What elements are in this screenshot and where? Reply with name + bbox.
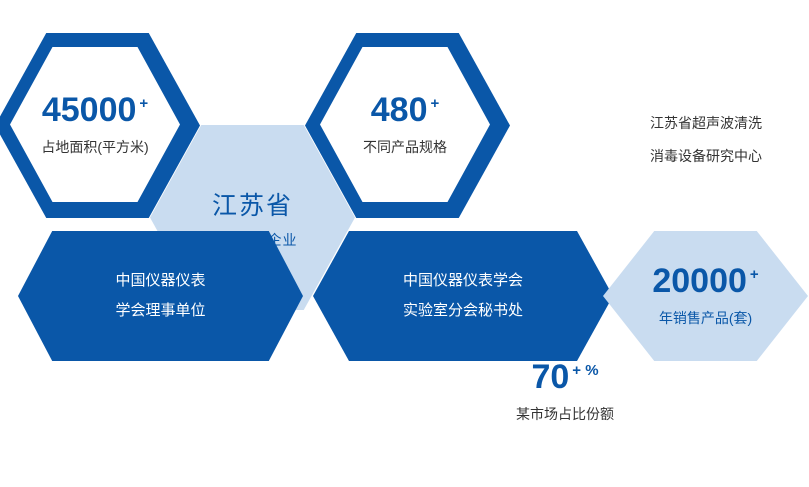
stat-market-share-superscript: + % <box>572 363 598 378</box>
stat-specs-value: 480 <box>371 93 428 127</box>
stat-annual-sales-number-line: 20000 + <box>652 264 758 298</box>
stat-market-share: 70 + % 某市场占比份额 <box>490 360 640 424</box>
stat-area-caption: 占地面积(平方米) <box>41 137 148 157</box>
hex-lab-branch-line2: 实验室分会秘书处 <box>403 296 523 326</box>
label-high-tech-enterprise: 江苏省高新技术企业 <box>485 212 620 238</box>
stat-specs-superscript: + <box>430 96 439 111</box>
stat-specs-number-line: 480 + <box>371 93 440 127</box>
hex-instrument-council-line1: 中国仪器仪表 <box>115 266 205 296</box>
stat-annual-sales-superscript: + <box>750 267 759 282</box>
label-research-center-line1: 江苏省超声波清洗 <box>650 110 762 136</box>
hex-lab-branch-line1: 中国仪器仪表学会 <box>403 266 523 296</box>
stat-area-number-line: 45000 + <box>42 93 148 127</box>
stat-market-share-number-line: 70 + % <box>490 360 640 394</box>
stat-hex-annual-sales: 20000 + 年销售产品(套) <box>603 231 808 361</box>
stat-annual-sales-caption: 年销售产品(套) <box>659 308 752 328</box>
stat-specs-caption: 不同产品规格 <box>363 137 447 157</box>
hex-instrument-council-line2: 学会理事单位 <box>115 296 205 326</box>
stat-annual-sales-value: 20000 <box>652 264 747 298</box>
hex-lab-branch: 中国仪器仪表学会 实验室分会秘书处 <box>313 231 613 361</box>
infographic-canvas: 45000 + 占地面积(平方米) 江苏省 专精特新企业 480 + 不同产品规… <box>0 0 809 487</box>
hex-instrument-council: 中国仪器仪表 学会理事单位 <box>18 231 303 361</box>
stat-market-share-value: 70 <box>531 360 569 394</box>
stat-market-share-caption: 某市场占比份额 <box>490 404 640 424</box>
label-research-center-line2: 消毒设备研究中心 <box>650 143 762 169</box>
stat-area-superscript: + <box>139 96 148 111</box>
badge-title: 江苏省 <box>212 186 293 222</box>
stat-area-value: 45000 <box>42 93 137 127</box>
